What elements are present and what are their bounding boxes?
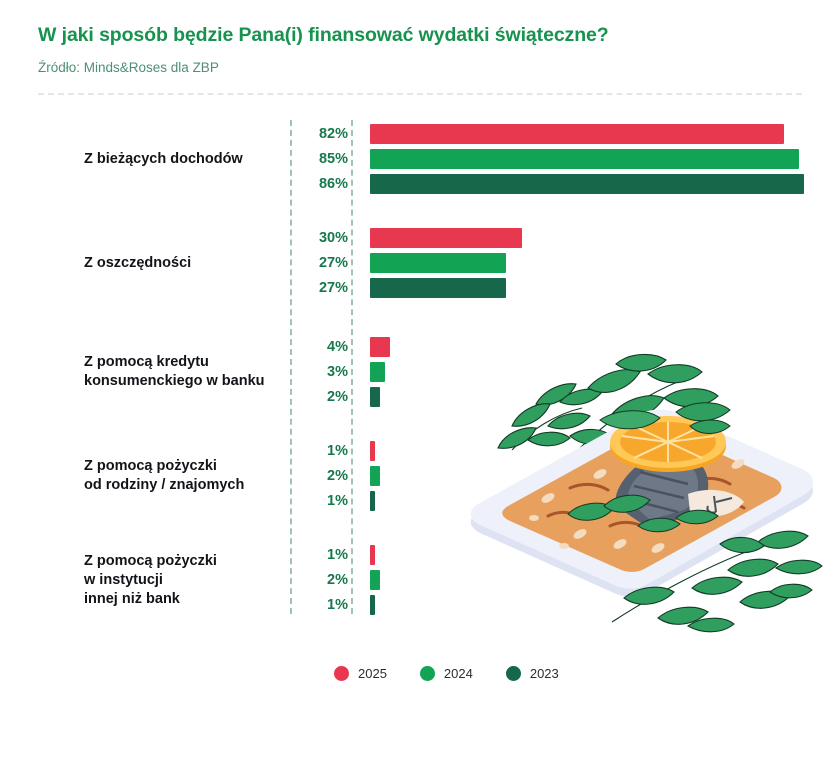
bar-row: 85% [0, 149, 840, 169]
bar-2024 [370, 466, 380, 486]
bar-value-label: 1% [296, 441, 348, 461]
bar-2025 [370, 124, 784, 144]
bar-2025 [370, 441, 375, 461]
bar-row: 27% [0, 278, 840, 298]
bar-2024 [370, 149, 799, 169]
bar-value-label: 1% [296, 545, 348, 565]
bar-value-label: 82% [296, 124, 348, 144]
legend-item-2024[interactable]: 2024 [420, 666, 473, 681]
bar-2023 [370, 595, 375, 615]
bar-2023 [370, 387, 380, 407]
legend-item-2025[interactable]: 2025 [334, 666, 387, 681]
holiday-dish-platter-illustration [452, 330, 840, 652]
bar-row: 30% [0, 228, 840, 248]
legend-dot-2023 [506, 666, 521, 681]
bar-2023 [370, 174, 804, 194]
bar-row: 86% [0, 174, 840, 194]
legend-item-2023[interactable]: 2023 [506, 666, 559, 681]
legend-dot-2024 [420, 666, 435, 681]
bar-2023 [370, 278, 506, 298]
bar-value-label: 2% [296, 570, 348, 590]
bar-value-label: 27% [296, 253, 348, 273]
bar-value-label: 2% [296, 387, 348, 407]
chart-legend: 202520242023 [334, 662, 592, 684]
bar-value-label: 86% [296, 174, 348, 194]
bar-2025 [370, 228, 522, 248]
bar-2025 [370, 545, 375, 565]
bar-value-label: 2% [296, 466, 348, 486]
bar-2024 [370, 253, 506, 273]
legend-label: 2023 [530, 666, 559, 681]
bar-row: 82% [0, 124, 840, 144]
chart-root: W jaki sposób będzie Pana(i) finansować … [0, 0, 840, 757]
bar-2024 [370, 362, 385, 382]
bar-2025 [370, 337, 390, 357]
bar-2023 [370, 491, 375, 511]
bar-row: 27% [0, 253, 840, 273]
bar-value-label: 30% [296, 228, 348, 248]
bar-value-label: 4% [296, 337, 348, 357]
bar-value-label: 1% [296, 595, 348, 615]
bar-value-label: 27% [296, 278, 348, 298]
bar-value-label: 1% [296, 491, 348, 511]
legend-dot-2025 [334, 666, 349, 681]
bar-value-label: 85% [296, 149, 348, 169]
legend-label: 2025 [358, 666, 387, 681]
bar-2024 [370, 570, 380, 590]
bar-value-label: 3% [296, 362, 348, 382]
legend-label: 2024 [444, 666, 473, 681]
